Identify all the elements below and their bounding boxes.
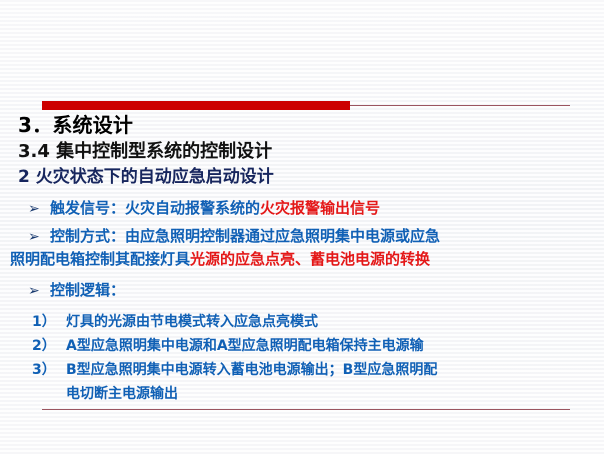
numbered-item-marker: 2） bbox=[32, 334, 66, 358]
heading-group: 3．系统设计 3.4 集中控制型系统的控制设计 2 火灾状态下的自动应急启动设计 bbox=[18, 112, 588, 189]
numbered-item-3: 3） B型应急照明集中电源转入蓄电池电源输出；B型应急照明配 bbox=[0, 358, 604, 382]
bottom-divider bbox=[42, 406, 570, 415]
numbered-item-marker: 1） bbox=[32, 310, 66, 334]
bullet-text-highlight: 火灾报警输出信号 bbox=[260, 199, 380, 217]
bullet-text: 控制方式：由应急照明控制器通过应急照明集中电源或应急 bbox=[50, 227, 440, 245]
section-heading: 2 火灾状态下的自动应急启动设计 bbox=[18, 165, 588, 189]
numbered-item-3-continuation: 电切断主电源输出 bbox=[0, 382, 604, 406]
top-divider-red-bar bbox=[42, 101, 350, 110]
numbered-item-1: 1） 灯具的光源由节电模式转入应急点亮模式 bbox=[0, 310, 604, 334]
bullet-text: 控制逻辑： bbox=[50, 281, 125, 299]
bullet-item-control-logic: ➢ 控制逻辑： bbox=[0, 279, 604, 302]
numbered-item-marker: 3） bbox=[32, 358, 66, 382]
arrow-right-icon: ➢ bbox=[28, 280, 40, 302]
content-body: ➢ 触发信号：火灾自动报警系统的火灾报警输出信号 ➢ 控制方式：由应急照明控制器… bbox=[0, 197, 604, 406]
top-divider bbox=[42, 101, 570, 110]
arrow-right-icon: ➢ bbox=[28, 198, 40, 220]
control-method-wrap-line: 照明配电箱控制其配接灯具光源的应急点亮、蓄电池电源的转换 bbox=[0, 248, 604, 271]
bullet-item-control-method: ➢ 控制方式：由应急照明控制器通过应急照明集中电源或应急 bbox=[0, 225, 604, 248]
numbered-item-text: B型应急照明集中电源转入蓄电池电源输出；B型应急照明配 bbox=[32, 358, 437, 382]
bottom-divider-line bbox=[42, 409, 570, 410]
wrap-line-plain: 照明配电箱控制其配接灯具 bbox=[10, 250, 190, 268]
arrow-right-icon: ➢ bbox=[28, 226, 40, 248]
numbered-item-text: 灯具的光源由节电模式转入应急点亮模式 bbox=[32, 310, 318, 334]
bullet-text: 触发信号：火灾自动报警系统的火灾报警输出信号 bbox=[50, 199, 380, 217]
wrap-line-highlight: 光源的应急点亮、蓄电池电源的转换 bbox=[190, 250, 430, 268]
page-subtitle: 3.4 集中控制型系统的控制设计 bbox=[18, 139, 588, 164]
slide-canvas: 3．系统设计 3.4 集中控制型系统的控制设计 2 火灾状态下的自动应急启动设计… bbox=[0, 0, 604, 454]
numbered-item-2: 2） A型应急照明集中电源和A型应急照明配电箱保持主电源输 bbox=[0, 334, 604, 358]
bullet-item-trigger-signal: ➢ 触发信号：火灾自动报警系统的火灾报警输出信号 bbox=[0, 197, 604, 220]
page-title: 3．系统设计 bbox=[18, 112, 588, 138]
bullet-text-plain: 触发信号：火灾自动报警系统的 bbox=[50, 199, 260, 217]
numbered-item-text: A型应急照明集中电源和A型应急照明配电箱保持主电源输 bbox=[32, 334, 424, 358]
